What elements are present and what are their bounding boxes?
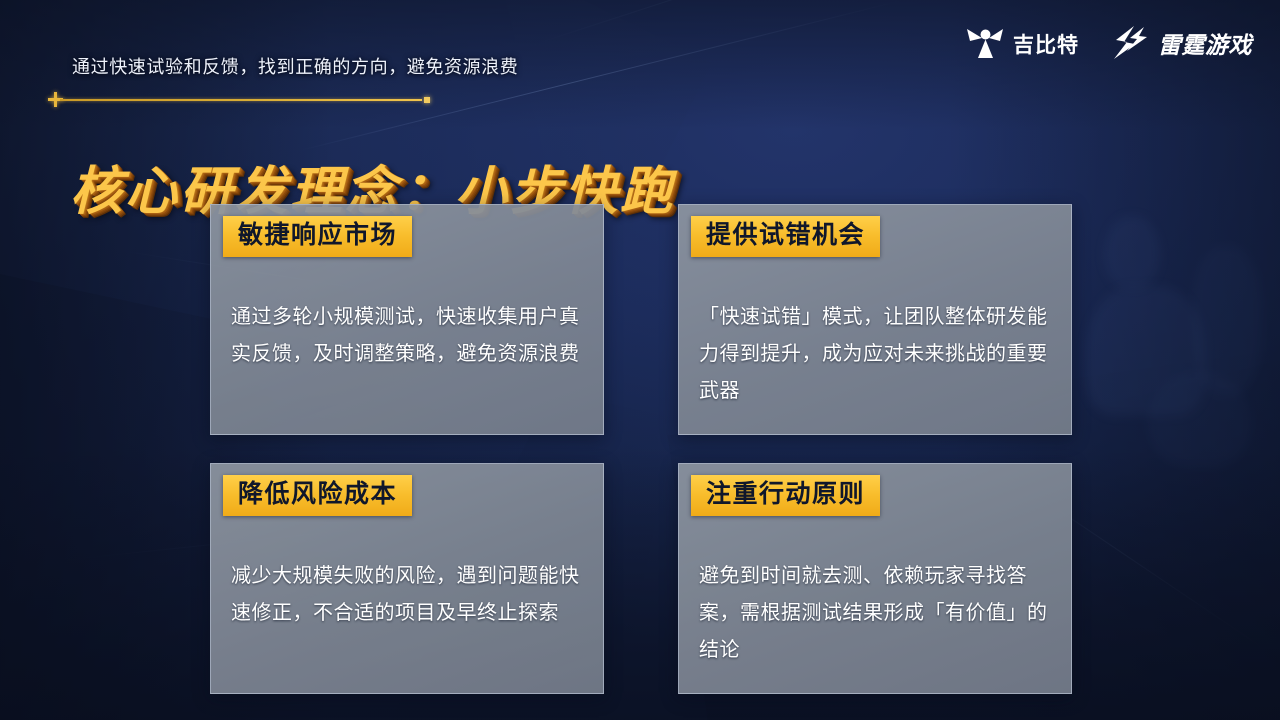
divider-end-dot	[424, 97, 430, 103]
card-body-text: 避免到时间就去测、依赖玩家寻找答案，需根据测试结果形成「有价值」的结论	[699, 558, 1055, 669]
card-reduce-risk-cost: 降低风险成本 减少大规模失败的风险，遇到问题能快速修正，不合适的项目及早终止探索	[210, 463, 604, 694]
card-grid: 敏捷响应市场 通过多轮小规模测试，快速收集用户真实反馈，及时调整策略，避免资源浪…	[210, 204, 1072, 694]
card-body-text: 通过多轮小规模测试，快速收集用户真实反馈，及时调整策略，避免资源浪费	[231, 299, 587, 373]
divider-line	[60, 99, 422, 101]
card-body-text: 减少大规模失败的风险，遇到问题能快速修正，不合适的项目及早终止探索	[231, 558, 587, 632]
card-action-principles: 注重行动原则 避免到时间就去测、依赖玩家寻找答案，需根据测试结果形成「有价值」的…	[678, 463, 1072, 694]
slide-subtitle: 通过快速试验和反馈，找到正确的方向，避免资源浪费	[72, 53, 518, 79]
card-heading-text: 提供试错机会	[706, 221, 865, 249]
card-heading-badge: 提供试错机会	[691, 216, 880, 257]
title-divider	[48, 98, 430, 101]
card-heading-text: 降低风险成本	[238, 480, 397, 508]
logo-thunder-games: 雷霆游戏	[1113, 26, 1252, 65]
brand-logo-bar: 吉比特 雷霆游戏	[966, 26, 1252, 65]
card-heading-text: 敏捷响应市场	[238, 221, 397, 249]
card-trial-and-error-opportunity: 提供试错机会 「快速试错」模式，让团队整体研发能力得到提升，成为应对未来挑战的重…	[678, 204, 1072, 435]
angel-icon	[966, 26, 1004, 65]
card-heading-badge: 注重行动原则	[691, 475, 880, 516]
lightning-bolt-icon	[1113, 26, 1149, 65]
card-body-text: 「快速试错」模式，让团队整体研发能力得到提升，成为应对未来挑战的重要武器	[699, 299, 1055, 410]
logo-gbits: 吉比特	[966, 26, 1079, 65]
card-heading-badge: 降低风险成本	[223, 475, 412, 516]
card-heading-badge: 敏捷响应市场	[223, 216, 412, 257]
logo-gbits-text: 吉比特	[1013, 35, 1079, 56]
slide-root: 吉比特 雷霆游戏 通过快速试验和反馈，找到正确的方向，避免资源浪费 核心研发理念…	[0, 0, 1280, 720]
card-heading-text: 注重行动原则	[706, 480, 865, 508]
logo-thunder-games-text: 雷霆游戏	[1158, 34, 1252, 57]
card-agile-market-response: 敏捷响应市场 通过多轮小规模测试，快速收集用户真实反馈，及时调整策略，避免资源浪…	[210, 204, 604, 435]
